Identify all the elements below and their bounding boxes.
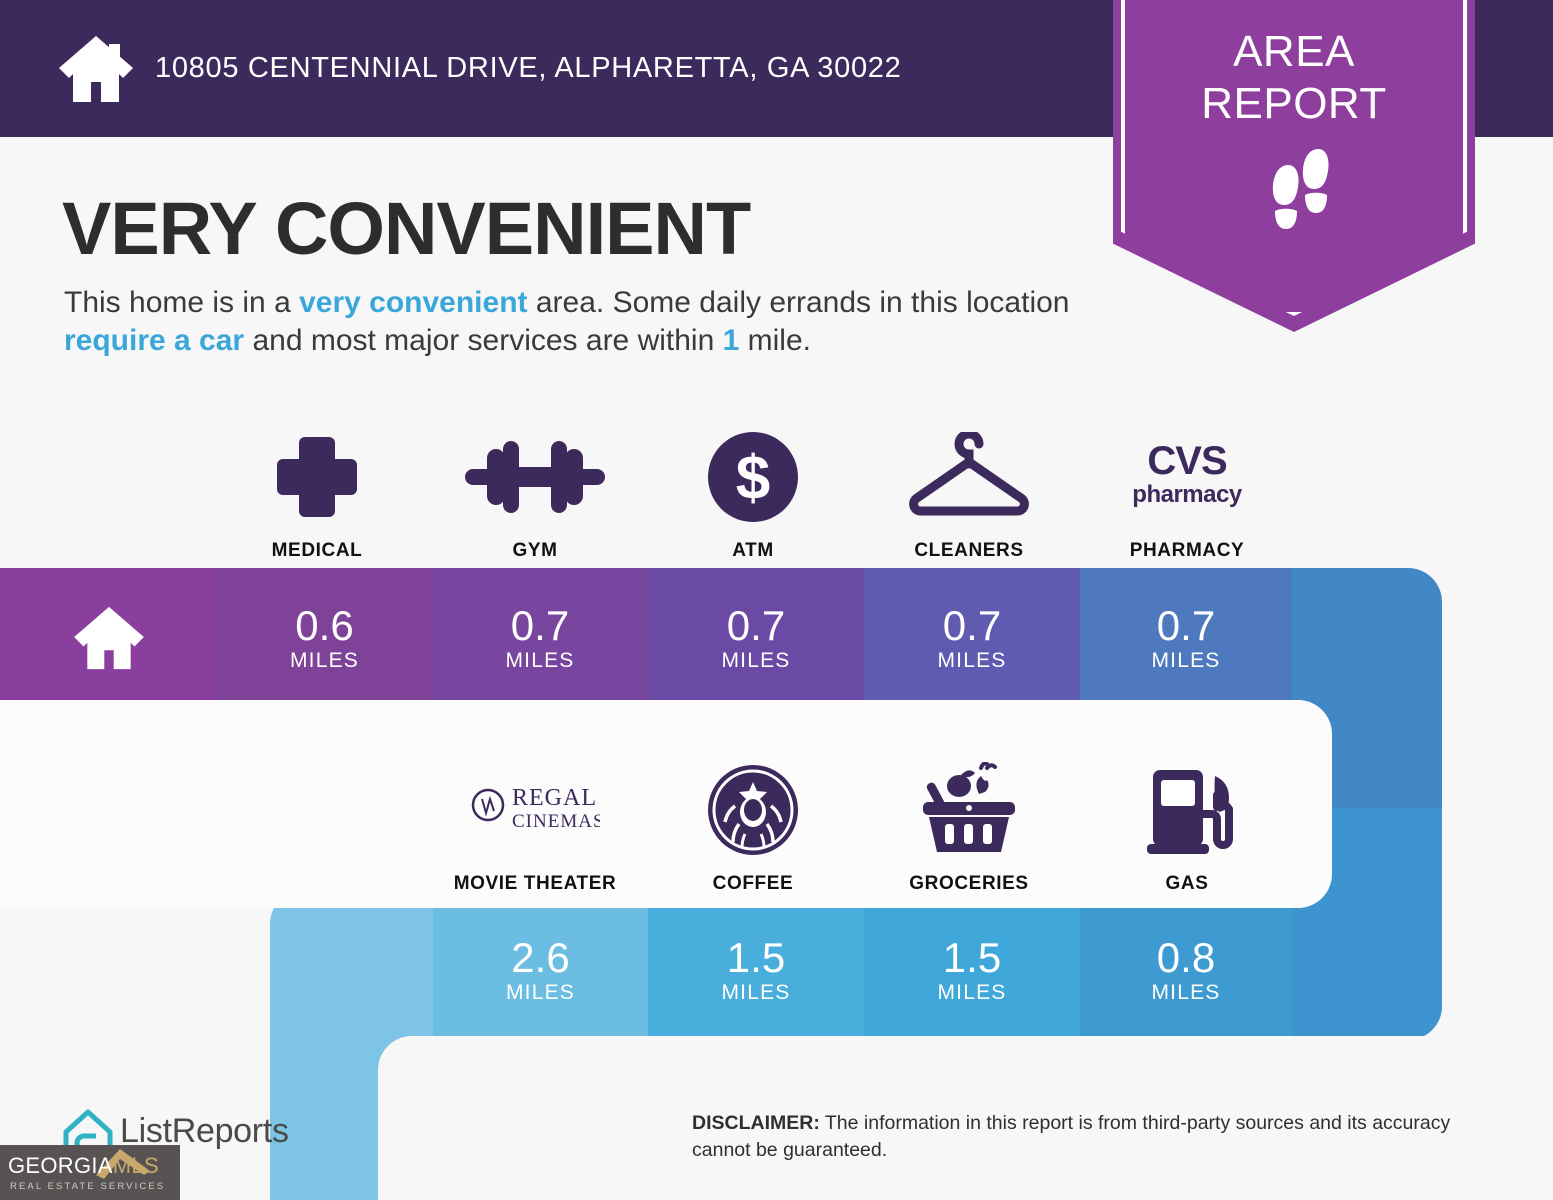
distance-segment-gym: 0.7 MILES [432, 568, 648, 708]
distance-unit: MILES [505, 649, 574, 673]
amenity-icon-medical: MEDICAL [209, 412, 425, 562]
amenity-label: MEDICAL [272, 540, 363, 562]
cvs-pharmacy-logo: CVS pharmacy [1119, 423, 1255, 531]
distance-segment-pharmacy: 0.7 MILES [1080, 568, 1292, 708]
dumbbell-icon [465, 423, 605, 531]
banner-title-line2: REPORT [1113, 78, 1475, 130]
medical-cross-icon [269, 423, 365, 531]
banner-title: AREA REPORT [1113, 26, 1475, 130]
summary-highlight-1: very convenient [299, 286, 527, 319]
summary-description: This home is in a very convenient area. … [64, 284, 1104, 360]
svg-text:$: $ [736, 444, 770, 513]
distance-segment-cleaners: 0.7 MILES [864, 568, 1080, 708]
amenity-label: GROCERIES [909, 873, 1028, 895]
distance-value: 0.6 [295, 604, 353, 648]
distance-unit: MILES [937, 981, 1006, 1005]
distance-value: 1.5 [727, 936, 785, 980]
amenity-icon-pharmacy: CVS pharmacy PHARMACY [1079, 412, 1295, 562]
georgia-mls-badge: GEORGIAMLS REAL ESTATE SERVICES [0, 1145, 180, 1200]
grocery-basket-icon [917, 756, 1021, 864]
disclaimer-label: DISCLAIMER: [692, 1112, 820, 1134]
amenity-label: MOVIE THEATER [454, 873, 617, 895]
dollar-circle-icon: $ [705, 423, 801, 531]
distance-value: 0.7 [511, 604, 569, 648]
amenity-icon-gas: GAS [1079, 745, 1295, 895]
summary-highlight-2: require a car [64, 324, 244, 357]
amenity-label: COFFEE [713, 873, 794, 895]
disclaimer: DISCLAIMER: The information in this repo… [692, 1110, 1492, 1164]
summary-highlight-3: 1 [723, 324, 740, 357]
distance-unit: MILES [506, 981, 575, 1005]
distance-unit: MILES [721, 981, 790, 1005]
summary-text-4: mile. [739, 324, 811, 357]
amenity-icon-movie-theater: REGAL CINEMAS MOVIE THEATER [427, 745, 643, 895]
amenity-label: GAS [1166, 873, 1209, 895]
mls-wordmark: GEORGIAMLS [8, 1153, 159, 1179]
distance-value: 2.6 [511, 936, 569, 980]
svg-text:pharmacy: pharmacy [1132, 481, 1243, 508]
amenity-icon-cleaners: CLEANERS [861, 412, 1077, 562]
distance-value: 1.5 [943, 936, 1001, 980]
regal-cinemas-logo: REGAL CINEMAS [470, 756, 600, 864]
amenity-icon-gym: GYM [427, 412, 643, 562]
distance-value: 0.7 [943, 604, 1001, 648]
mls-geo-text: GEORGIA [8, 1153, 113, 1178]
footprints-icon [1244, 147, 1344, 242]
hanger-icon [907, 423, 1031, 531]
distance-unit: MILES [1151, 981, 1220, 1005]
distance-value: 0.7 [727, 604, 785, 648]
distance-unit: MILES [721, 649, 790, 673]
gas-pump-icon [1139, 756, 1235, 864]
distance-unit: MILES [290, 649, 359, 673]
mls-tagline: REAL ESTATE SERVICES [10, 1181, 165, 1192]
distance-segment-movie-theater: 2.6 MILES [433, 900, 648, 1040]
amenity-label: PHARMACY [1130, 540, 1245, 562]
distance-unit: MILES [937, 649, 1006, 673]
area-report-banner: AREA REPORT [1113, 0, 1475, 332]
distance-segment-atm: 0.7 MILES [648, 568, 864, 708]
home-marker [0, 568, 217, 708]
distance-unit: MILES [1151, 649, 1220, 673]
svg-text:CVS: CVS [1147, 439, 1227, 483]
property-address: 10805 CENTENNIAL DRIVE, ALPHARETTA, GA 3… [155, 52, 901, 85]
summary-text-2: area. Some daily errands in this locatio… [528, 286, 1070, 319]
home-icon [57, 34, 135, 104]
amenity-label: ATM [732, 540, 774, 562]
banner-title-line1: AREA [1113, 26, 1475, 78]
amenity-label: GYM [512, 540, 557, 562]
summary-text-3: and most major services are within [244, 324, 723, 357]
distance-segment-gas: 0.8 MILES [1080, 900, 1292, 1040]
amenity-icon-groceries: GROCERIES [861, 745, 1077, 895]
amenity-label: CLEANERS [914, 540, 1023, 562]
svg-text:REGAL: REGAL [512, 785, 597, 811]
amenity-icon-coffee: COFFEE [645, 745, 861, 895]
page-title: VERY CONVENIENT [62, 186, 750, 271]
svg-text:CINEMAS: CINEMAS [512, 811, 600, 832]
home-icon [70, 605, 148, 671]
amenity-icon-atm: $ ATM [645, 412, 861, 562]
distance-value: 0.8 [1157, 936, 1215, 980]
distance-segment-coffee: 1.5 MILES [648, 900, 864, 1040]
summary-text-1: This home is in a [64, 286, 299, 319]
distance-segment-medical: 0.6 MILES [217, 568, 432, 708]
starbucks-logo [705, 756, 801, 864]
distance-segment-groceries: 1.5 MILES [864, 900, 1080, 1040]
mls-mls-text: MLS [113, 1153, 159, 1178]
distance-value: 0.7 [1157, 604, 1215, 648]
